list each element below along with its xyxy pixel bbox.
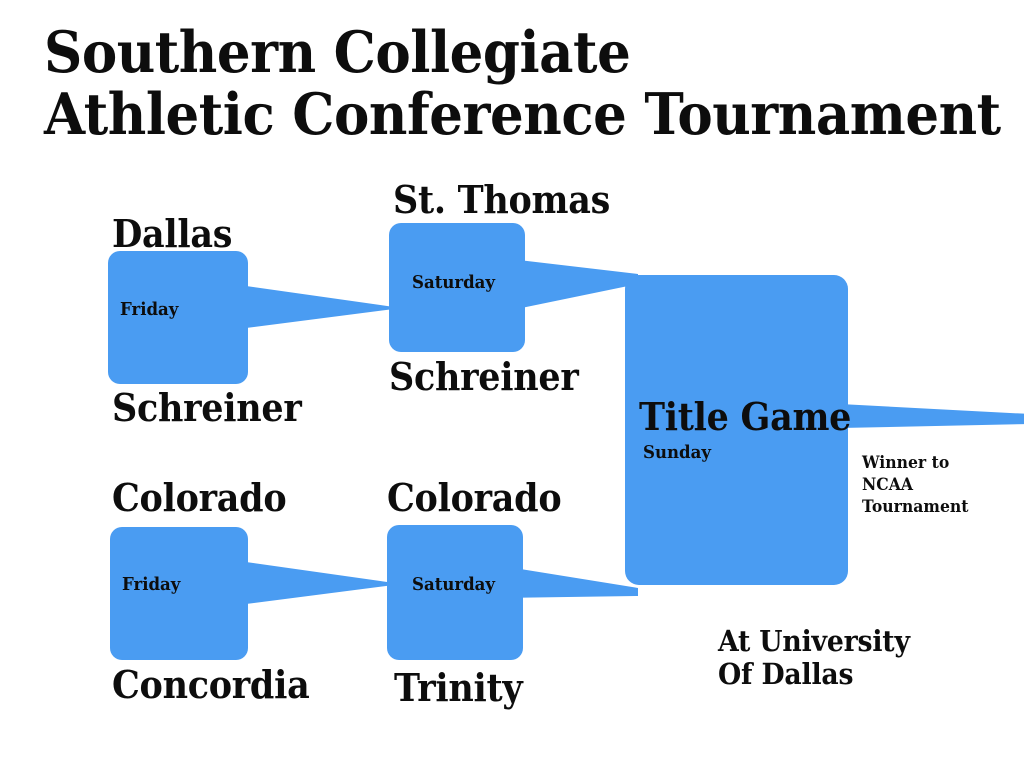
winner-note-line-1: Winner to: [862, 452, 949, 474]
connector-r1bottom-to-r2bottom: [246, 558, 394, 608]
r2-top-lower-team: Schreiner: [389, 357, 578, 397]
page-title-line-2: Athletic Conference Tournament: [44, 84, 937, 146]
r1-top-day-label: Friday: [120, 300, 178, 320]
r1-bottom-day-label: Friday: [122, 575, 180, 595]
venue-note-line-2: Of Dallas: [718, 658, 853, 691]
r2-bottom-game-box[interactable]: Saturday: [387, 525, 523, 660]
r2-top-day-label: Saturday: [412, 273, 495, 293]
page-title-line-1: Southern Collegiate: [44, 22, 937, 84]
final-game-box[interactable]: Title Game Sunday: [625, 275, 848, 585]
final-day-label: Sunday: [643, 443, 711, 463]
r2-bottom-lower-team: Trinity: [394, 668, 522, 708]
page-title: Southern Collegiate Athletic Conference …: [44, 22, 1004, 146]
connector-wedge: [246, 286, 394, 328]
connector-r1top-to-r2top: [246, 282, 394, 332]
r1-top-upper-team: Dallas: [112, 214, 232, 254]
bracket-canvas: Southern Collegiate Athletic Conference …: [0, 0, 1024, 768]
r1-bottom-lower-team: Concordia: [112, 665, 309, 705]
final-game-label: Title Game: [639, 396, 851, 438]
winner-note-line-3: Tournament: [862, 496, 968, 518]
r2-top-upper-team: St. Thomas: [393, 180, 610, 220]
connector-wedge: [840, 404, 1024, 428]
r2-bottom-day-label: Saturday: [412, 575, 495, 595]
venue-note-line-1: At University: [718, 625, 910, 658]
r1-bottom-upper-team: Colorado: [112, 478, 286, 518]
connector-final-to-ncaa: [840, 396, 1024, 442]
connector-wedge: [246, 562, 394, 604]
r1-top-game-box[interactable]: Friday: [108, 251, 248, 384]
r1-bottom-game-box[interactable]: Friday: [110, 527, 248, 660]
r2-bottom-upper-team: Colorado: [387, 478, 561, 518]
r2-top-game-box[interactable]: Saturday: [389, 223, 525, 352]
winner-note-line-2: NCAA: [862, 474, 913, 496]
r1-top-lower-team: Schreiner: [112, 388, 301, 428]
